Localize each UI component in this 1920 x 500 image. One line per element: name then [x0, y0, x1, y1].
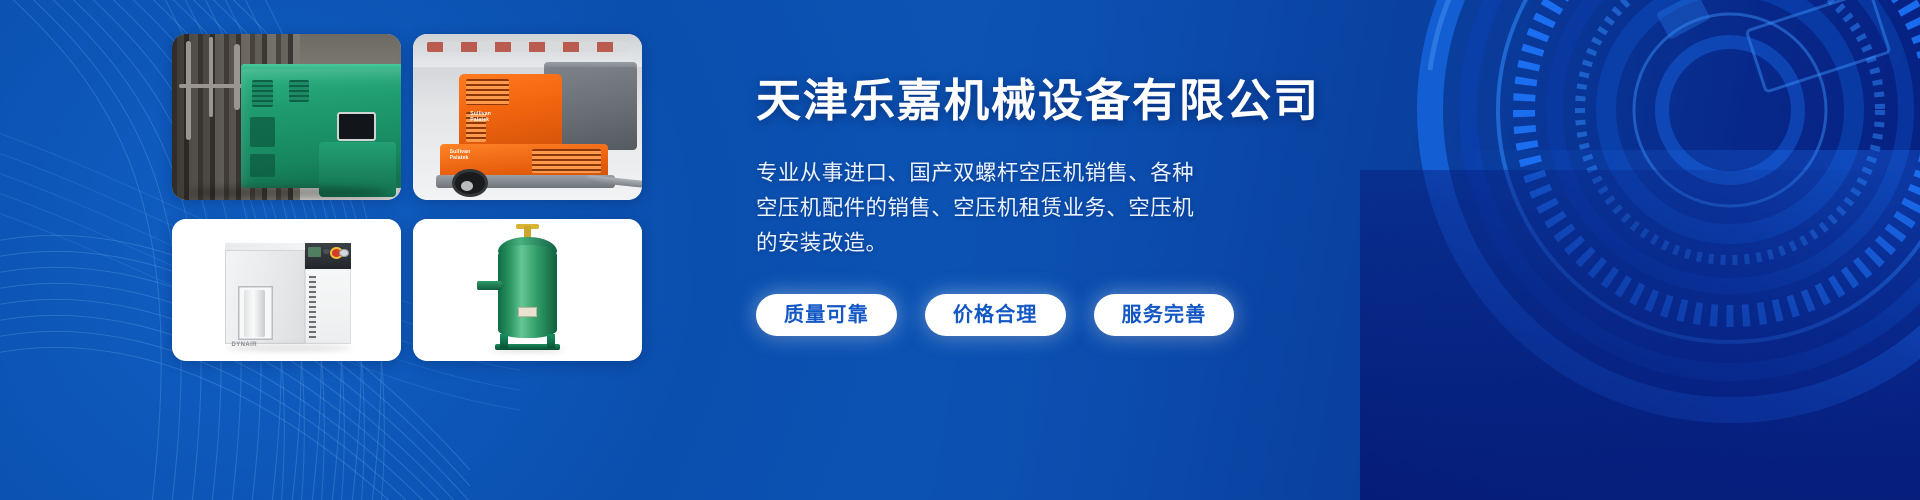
banner-text-content: 天津乐嘉机械设备有限公司 专业从事进口、国产双螺杆空压机销售、各种 空压机配件的… [756, 78, 1436, 336]
feature-pill-group: 质量可靠 价格合理 服务完善 [756, 294, 1436, 336]
white-cabinet-air-dryer-photo: DYNAIR [172, 219, 401, 361]
company-title: 天津乐嘉机械设备有限公司 [756, 78, 1436, 123]
corner-shade-decoration [1360, 170, 1920, 500]
hud-circles-decoration [1410, 0, 1920, 430]
product-card-white-cabinet-air-dryer[interactable]: DYNAIR [172, 219, 401, 361]
product-card-orange-portable-compressor[interactable]: SullivanPalatek SullivanPalatek [413, 34, 642, 200]
promo-banner: SullivanPalatek SullivanPalatek [0, 0, 1920, 500]
product-card-green-air-tank[interactable] [413, 219, 642, 361]
feature-pill-price[interactable]: 价格合理 [925, 294, 1066, 336]
orange-portable-compressor-photo: SullivanPalatek SullivanPalatek [413, 34, 642, 200]
feature-pill-quality[interactable]: 质量可靠 [756, 294, 897, 336]
product-card-green-packaged-compressor[interactable] [172, 34, 401, 200]
description-line-2: 空压机配件的销售、空压机租赁业务、空压机 [756, 191, 1436, 226]
feature-pill-service[interactable]: 服务完善 [1094, 294, 1235, 336]
description-line-1: 专业从事进口、国产双螺杆空压机销售、各种 [756, 156, 1436, 191]
green-packaged-compressor-photo [172, 34, 401, 200]
description-line-3: 的安装改造。 [756, 226, 1436, 261]
green-vertical-air-tank-photo [413, 219, 642, 361]
product-image-gallery: SullivanPalatek SullivanPalatek [172, 34, 642, 361]
company-description: 专业从事进口、国产双螺杆空压机销售、各种 空压机配件的销售、空压机租赁业务、空压… [756, 156, 1436, 260]
